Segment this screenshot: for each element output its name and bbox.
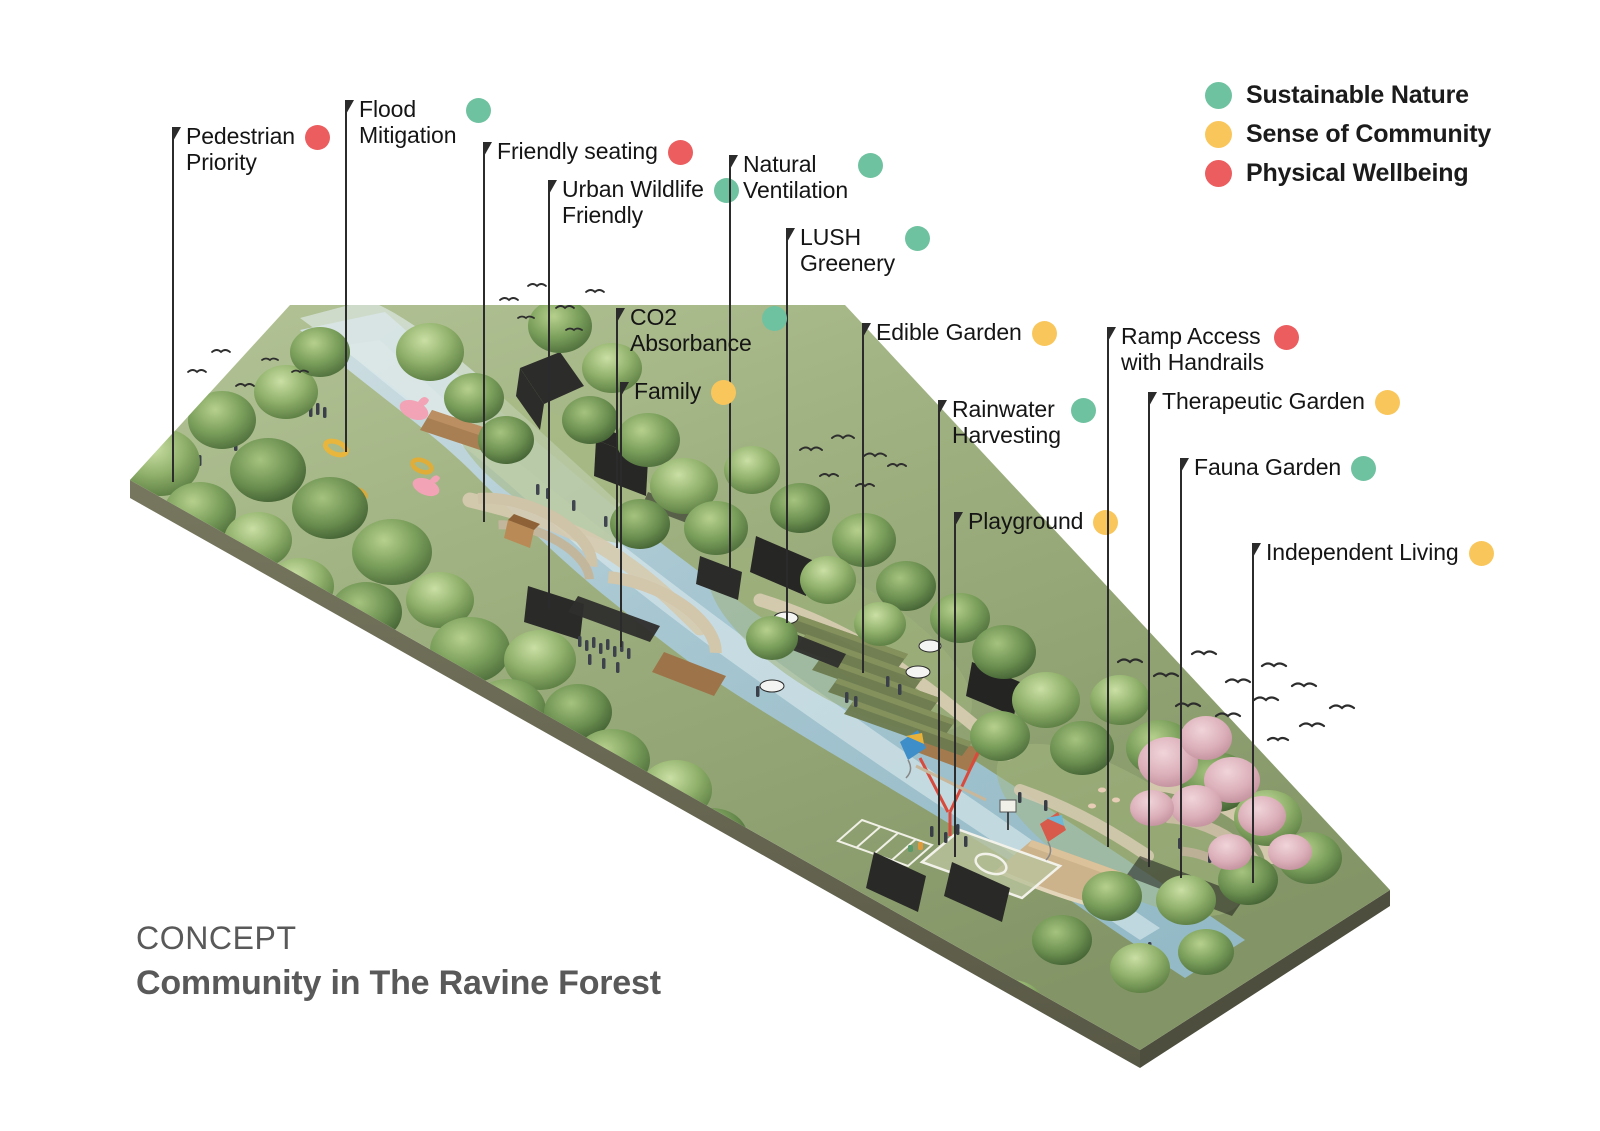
callout-label: Ramp Accesswith Handrails [1121, 323, 1264, 375]
leader-flag-icon [345, 100, 354, 116]
meadow-patch [972, 711, 1269, 949]
callout-label: Therapeutic Garden [1162, 388, 1365, 414]
callout-label-line1: Pedestrian [186, 123, 295, 149]
callout-label: Playground [968, 508, 1083, 534]
bird-flock [188, 350, 308, 386]
callout-label-line2: Mitigation [359, 122, 456, 148]
callout-label-line1: Friendly seating [497, 138, 658, 164]
legend-dot-physical-wellbeing [1205, 160, 1232, 187]
leader-flag-icon [548, 180, 557, 196]
leader-line [1148, 392, 1150, 867]
callout-label: Independent Living [1266, 539, 1459, 565]
callout-category-dot-sustainable-nature [714, 178, 739, 203]
callout-body[interactable]: Therapeutic Garden [1162, 388, 1400, 415]
callout-label-line1: Urban Wildlife [562, 176, 704, 202]
callout-label-line2: Priority [186, 149, 295, 175]
callout-label-line1: Playground [968, 508, 1083, 534]
pool-float-ring [349, 487, 367, 501]
callout-body[interactable]: LUSHGreenery [800, 224, 930, 276]
legend-item-physical-wellbeing[interactable]: Physical Wellbeing [1205, 160, 1491, 187]
leader-line [172, 127, 174, 482]
boardwalk-bridge [652, 652, 726, 696]
callout-label: PedestrianPriority [186, 123, 295, 175]
edible-garden-beds [780, 612, 972, 756]
callout-label: Family [634, 378, 701, 404]
callout-body[interactable]: RainwaterHarvesting [952, 396, 1096, 448]
concept-board: PedestrianPriorityFloodMitigationFriendl… [0, 0, 1600, 1131]
park-path [760, 600, 1008, 754]
callout-label-line2: Harvesting [952, 422, 1061, 448]
callout-body[interactable]: Ramp Accesswith Handrails [1121, 323, 1299, 375]
sports-court [922, 830, 1060, 898]
therapeutic-garden-arc [1158, 811, 1275, 882]
callout-body[interactable]: Playground [968, 508, 1118, 535]
callout-body[interactable]: Urban WildlifeFriendly [562, 176, 739, 228]
pavilion [966, 662, 1020, 716]
leader-line [345, 100, 347, 452]
pavilion [594, 430, 660, 496]
pavilion [750, 536, 812, 596]
legend-label: Physical Wellbeing [1246, 161, 1468, 186]
leader-line [616, 308, 618, 548]
callout-category-dot-sustainable-nature [1071, 398, 1096, 423]
callout-body[interactable]: CO2Absorbance [630, 304, 787, 356]
legend-item-sustainable-nature[interactable]: Sustainable Nature [1205, 82, 1491, 109]
cow-figure [906, 666, 930, 678]
callout-label-line1: Fauna Garden [1194, 454, 1341, 480]
title-block: CONCEPT Community in The Ravine Forest [136, 918, 661, 1005]
callout-category-dot-sustainable-nature [1351, 456, 1376, 481]
people-group [198, 403, 327, 466]
callout-label: Friendly seating [497, 138, 658, 164]
site-soil-edge-east [1140, 890, 1390, 1068]
legend-dot-sense-of-community [1205, 121, 1232, 148]
basketball-hoop [1000, 800, 1016, 830]
footbridge-rail [1000, 872, 1096, 906]
leader-flag-icon [1148, 392, 1157, 408]
edible-garden-beds-top [787, 612, 972, 747]
callout-label-line1: CO2 [630, 304, 677, 330]
people-group [536, 484, 608, 527]
callout-body[interactable]: Friendly seating [497, 138, 693, 165]
pavilion [524, 586, 584, 640]
callout-label-line1: LUSH [800, 224, 861, 250]
park-path [1020, 790, 1148, 856]
callout-body[interactable]: FloodMitigation [359, 96, 491, 148]
callout-label-line1: Independent Living [1266, 539, 1459, 565]
legend-dot-sustainable-nature [1205, 82, 1232, 109]
callout-label-line1: Edible Garden [876, 319, 1022, 345]
therapeutic-garden-arc [1176, 848, 1260, 899]
leader-line [483, 142, 485, 522]
legend-label: Sense of Community [1246, 122, 1491, 147]
therapeutic-garden-arc [1138, 776, 1285, 864]
legend-label: Sustainable Nature [1246, 83, 1469, 108]
callout-category-dot-sense-of-community [1032, 321, 1057, 346]
callout-category-dot-sustainable-nature [905, 226, 930, 251]
callout-label-line2: Friendly [562, 202, 704, 228]
pool-float-ring [411, 457, 434, 475]
leader-flag-icon [1107, 327, 1116, 343]
flood-plain-wash [300, 300, 640, 556]
callout-label-line1: Family [634, 378, 701, 404]
boardwalk-bridge [420, 410, 498, 452]
leader-line [1180, 458, 1182, 878]
callout-category-dot-physical-wellbeing [1274, 325, 1299, 350]
leader-line [786, 228, 788, 623]
leader-flag-icon [620, 382, 629, 398]
callout-category-dot-physical-wellbeing [305, 125, 330, 150]
callout-label: Urban WildlifeFriendly [562, 176, 704, 228]
pavilion-canopy [568, 596, 846, 668]
legend: Sustainable NatureSense of CommunityPhys… [1205, 82, 1491, 187]
callout-label-line1: Rainwater [952, 396, 1055, 422]
callout-label-line1: Therapeutic Garden [1162, 388, 1365, 414]
leader-flag-icon [1180, 458, 1189, 474]
people-group [756, 676, 902, 707]
leader-flag-icon [954, 512, 963, 528]
callout-label: FloodMitigation [359, 96, 456, 148]
bird-flock [1118, 652, 1354, 741]
blossom-tree-cluster [1130, 716, 1312, 870]
leader-line [938, 400, 940, 845]
callout-category-dot-sense-of-community [711, 380, 736, 405]
title-eyebrow: CONCEPT [136, 918, 661, 958]
leader-flag-icon [483, 142, 492, 158]
callout-label: RainwaterHarvesting [952, 396, 1061, 448]
callout-category-dot-physical-wellbeing [668, 140, 693, 165]
people-crowd [578, 636, 631, 673]
leader-flag-icon [1252, 543, 1261, 559]
callout-body[interactable]: PedestrianPriority [186, 123, 330, 175]
callout-body[interactable]: Independent Living [1266, 539, 1494, 566]
leader-line [729, 155, 731, 575]
curved-seating-terrace [469, 489, 603, 567]
boardwalk-deck [994, 840, 1132, 908]
leader-line [548, 180, 550, 610]
callout-label-line2: Ventilation [743, 177, 848, 203]
callout-category-dot-sustainable-nature [858, 153, 883, 178]
callout-label: NaturalVentilation [743, 151, 848, 203]
page-title: Community in The Ravine Forest [136, 962, 661, 1005]
leader-line [1107, 327, 1109, 847]
boardwalk-bridge [906, 726, 982, 772]
picnic-figure [908, 842, 923, 852]
curved-seating-terrace [597, 572, 729, 653]
callout-label: Edible Garden [876, 319, 1022, 345]
callout-label-line1: Ramp Access [1121, 323, 1261, 349]
leader-line [620, 382, 622, 647]
leader-flag-icon [938, 400, 947, 416]
cow-figure [760, 680, 784, 692]
kite [1040, 812, 1066, 860]
garden-shed [504, 514, 540, 548]
callout-label: LUSHGreenery [800, 224, 895, 276]
callout-label: Fauna Garden [1194, 454, 1341, 480]
park-path [470, 500, 700, 628]
callout-body[interactable]: Fauna Garden [1194, 454, 1376, 481]
callout-label-line1: Flood [359, 96, 416, 122]
hopscotch-court [838, 820, 932, 866]
callout-body[interactable]: Edible Garden [876, 319, 1057, 346]
bird-flock [800, 436, 906, 487]
callout-label: CO2Absorbance [630, 304, 752, 356]
pavilion [516, 352, 584, 430]
callout-category-dot-sense-of-community [1375, 390, 1400, 415]
swimmer-figure [1088, 788, 1120, 809]
leader-flag-icon [172, 127, 181, 143]
playground-swing-frame [916, 752, 986, 836]
callout-label-line2: Greenery [800, 250, 895, 276]
callout-body[interactable]: NaturalVentilation [743, 151, 883, 203]
curved-seating-terrace [492, 518, 599, 579]
leader-flag-icon [786, 228, 795, 244]
people-group [930, 792, 1048, 847]
pavilion-shadow [642, 492, 1246, 916]
legend-item-sense-of-community[interactable]: Sense of Community [1205, 121, 1491, 148]
callout-category-dot-sense-of-community [1093, 510, 1118, 535]
callout-label-line2: with Handrails [1121, 349, 1264, 375]
callout-category-dot-sustainable-nature [762, 306, 787, 331]
leader-flag-icon [616, 308, 625, 324]
callout-category-dot-sense-of-community [1469, 541, 1494, 566]
pavilion [696, 556, 742, 600]
callout-category-dot-sustainable-nature [466, 98, 491, 123]
pavilion [866, 852, 1010, 922]
pool-float-flamingo [397, 396, 432, 424]
callout-label-line2: Absorbance [630, 330, 752, 356]
leader-line [954, 512, 956, 857]
leader-line [1252, 543, 1254, 883]
bird-flock [500, 284, 604, 330]
stream-water [300, 312, 1245, 978]
leader-flag-icon [729, 155, 738, 171]
callout-label-line1: Natural [743, 151, 816, 177]
pool-float-flamingo [410, 474, 442, 499]
leader-flag-icon [862, 323, 871, 339]
callout-body[interactable]: Family [634, 378, 736, 405]
kite [900, 730, 926, 778]
leader-line [862, 323, 864, 673]
